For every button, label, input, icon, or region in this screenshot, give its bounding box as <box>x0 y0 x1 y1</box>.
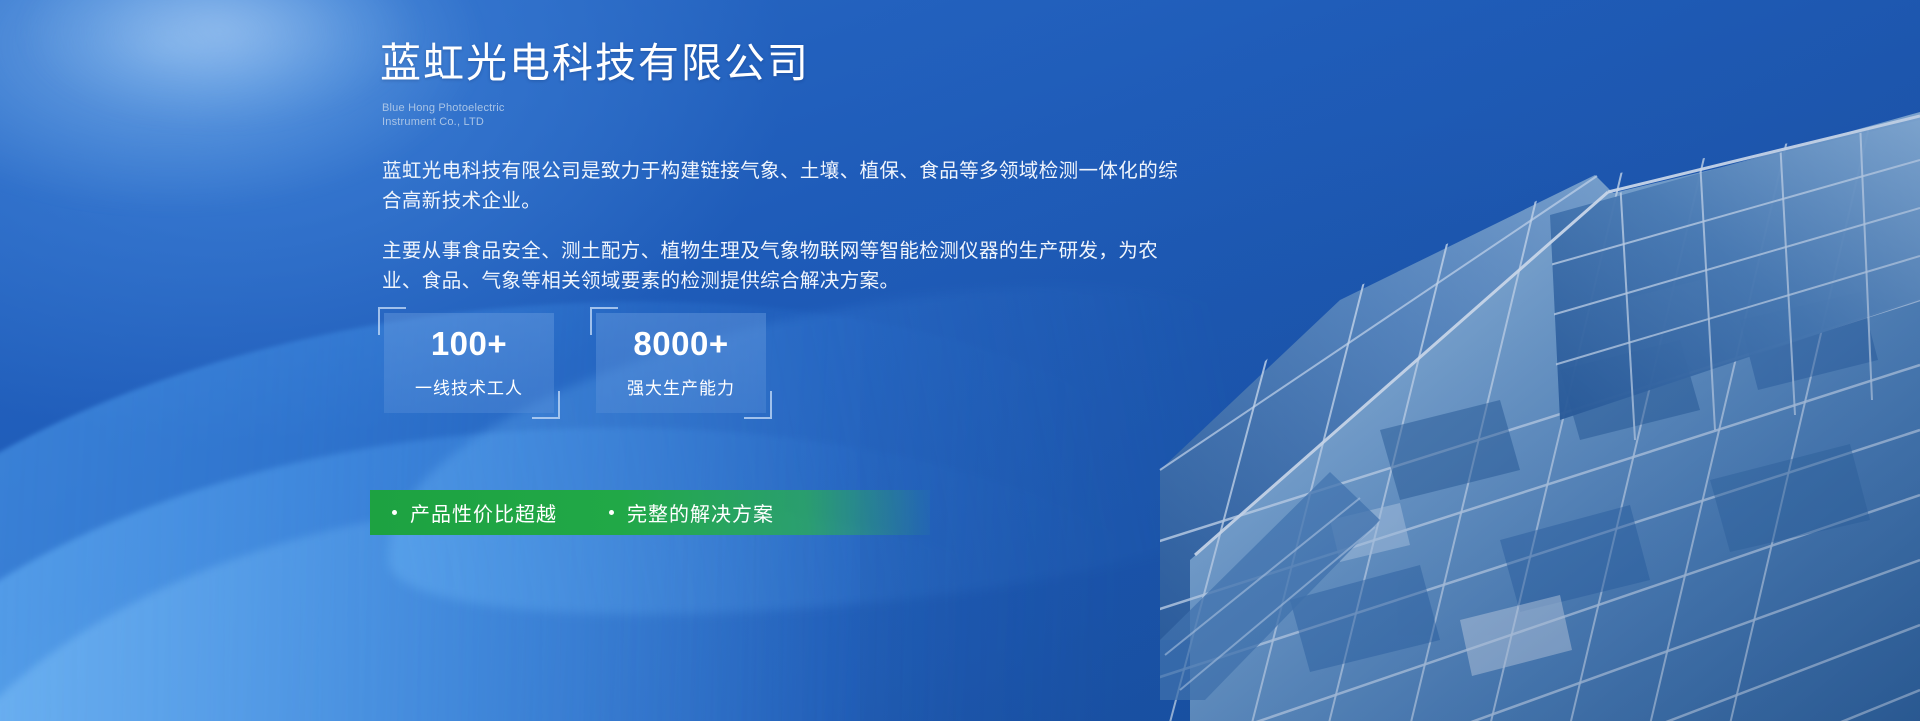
intro-paragraph-2: 主要从事食品安全、测土配方、植物生理及气象物联网等智能检测仪器的生产研发，为农业… <box>382 236 1182 296</box>
company-name-english-line2: Instrument Co., LTD <box>382 115 1210 129</box>
stat-label: 强大生产能力 <box>627 374 735 399</box>
highlight-tag-label: 产品性价比超越 <box>410 498 557 527</box>
stat-card-workers: 100+ 一线技术工人 <box>384 313 554 413</box>
highlight-tag-solution: 完整的解决方案 <box>557 490 774 535</box>
company-name-english: Blue Hong Photoelectric Instrument Co., … <box>382 101 1210 129</box>
stat-card-capacity: 8000+ 强大生产能力 <box>596 313 766 413</box>
stat-value: 100+ <box>431 327 507 360</box>
intro-paragraph-1: 蓝虹光电科技有限公司是致力于构建链接气象、土壤、植保、食品等多领域检测一体化的综… <box>382 156 1182 216</box>
stat-value: 8000+ <box>633 327 728 360</box>
bullet-dot-icon <box>609 510 614 515</box>
highlight-tag-label: 完整的解决方案 <box>627 498 774 527</box>
highlight-tag-value: 产品性价比超越 <box>370 490 557 535</box>
page-title: 蓝虹光电科技有限公司 <box>380 0 1210 89</box>
highlight-tags-bar: 产品性价比超越 完整的解决方案 <box>370 490 930 535</box>
company-name-english-line1: Blue Hong Photoelectric <box>382 101 1210 115</box>
stats-group: 100+ 一线技术工人 8000+ 强大生产能力 <box>384 313 766 413</box>
banner-hero: 蓝虹光电科技有限公司 Blue Hong Photoelectric Instr… <box>0 0 1920 721</box>
stat-label: 一线技术工人 <box>415 374 523 399</box>
bullet-dot-icon <box>392 510 397 515</box>
banner-content: 蓝虹光电科技有限公司 Blue Hong Photoelectric Instr… <box>380 0 1210 296</box>
